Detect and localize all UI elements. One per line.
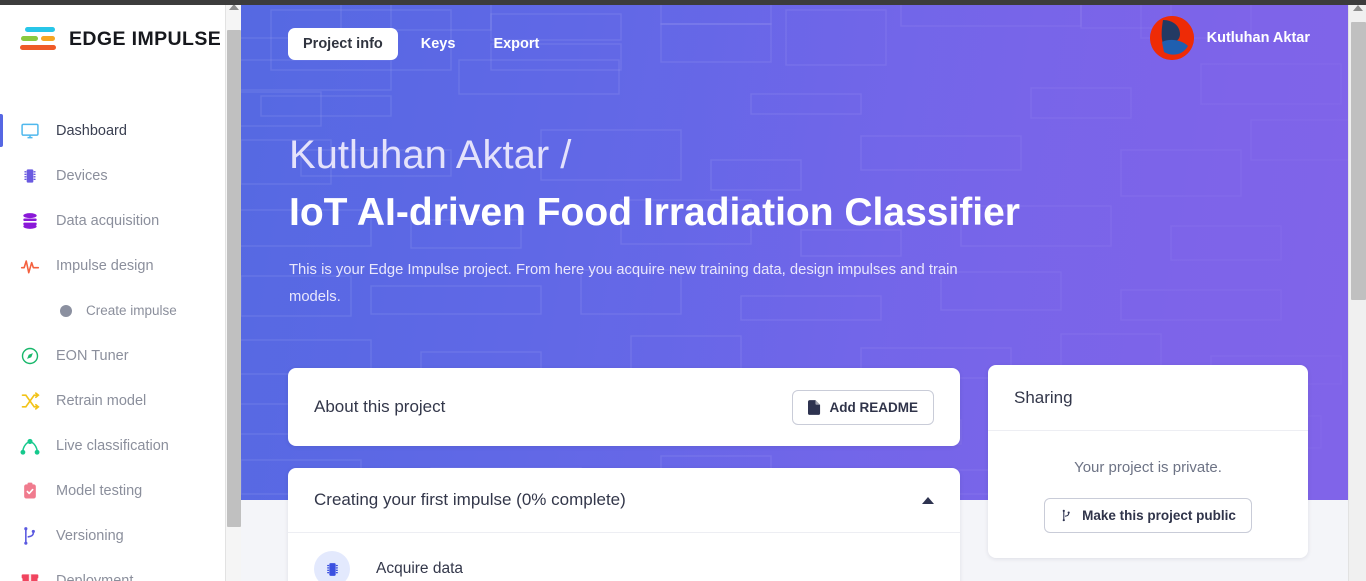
scrollbar-thumb[interactable]	[1351, 22, 1366, 300]
hero-description: This is your Edge Impulse project. From …	[289, 257, 969, 312]
sidebar-item-label: Data acquisition	[56, 213, 159, 229]
monitor-icon	[20, 121, 40, 141]
shuffle-icon	[20, 391, 40, 411]
sidebar-item-deployment[interactable]: Deployment	[0, 558, 225, 581]
scroll-up-arrow-icon[interactable]	[1353, 5, 1363, 11]
sidebar-item-retrain-model[interactable]: Retrain model	[0, 378, 225, 423]
tab-project-info[interactable]: Project info	[288, 28, 398, 60]
sidebar-item-label: Live classification	[56, 438, 169, 454]
step-badge	[314, 551, 350, 581]
sharing-status: Your project is private.	[988, 459, 1308, 476]
database-icon	[20, 211, 40, 231]
sidebar-subitem-label: Create impulse	[86, 303, 177, 318]
sidebar-item-label: Devices	[56, 168, 108, 184]
pulse-icon	[20, 256, 40, 276]
clipboard-check-icon	[20, 481, 40, 501]
sidebar-item-versioning[interactable]: Versioning	[0, 513, 225, 558]
project-tabs: Project info Keys Export	[288, 28, 554, 60]
about-project-card: About this project Add README	[288, 368, 960, 446]
avatar	[1150, 16, 1194, 60]
compass-icon	[20, 346, 40, 366]
sidebar-item-impulse-design[interactable]: Impulse design	[0, 243, 225, 288]
sharing-card: Sharing Your project is private. Make th…	[988, 365, 1308, 558]
impulse-step-row[interactable]: Acquire data	[288, 533, 960, 581]
user-name: Kutluhan Aktar	[1207, 30, 1310, 46]
window-top-strip	[0, 0, 1366, 5]
git-branch-icon	[1060, 508, 1073, 523]
file-icon	[808, 400, 821, 415]
sidebar-scrollbar[interactable]	[225, 0, 241, 581]
tab-keys[interactable]: Keys	[406, 28, 471, 60]
box-icon	[20, 571, 40, 581]
sidebar: EDGE IMPULSE Dashboard Devices	[0, 0, 225, 581]
page-scrollbar[interactable]	[1348, 0, 1366, 581]
tab-export[interactable]: Export	[478, 28, 554, 60]
sidebar-item-label: Retrain model	[56, 393, 146, 409]
sidebar-item-data-acquisition[interactable]: Data acquisition	[0, 198, 225, 243]
add-readme-button[interactable]: Add README	[792, 390, 935, 425]
sidebar-item-label: Model testing	[56, 483, 142, 499]
chip-icon	[323, 560, 342, 579]
step-label: Acquire data	[376, 560, 463, 578]
sidebar-item-label: Impulse design	[56, 258, 154, 274]
make-public-label: Make this project public	[1082, 508, 1236, 523]
make-project-public-button[interactable]: Make this project public	[1044, 498, 1252, 533]
impulse-card-title: Creating your first impulse (0% complete…	[314, 490, 626, 510]
sidebar-item-eon-tuner[interactable]: EON Tuner	[0, 333, 225, 378]
sidebar-item-dashboard[interactable]: Dashboard	[0, 108, 225, 153]
brand-name: EDGE IMPULSE	[69, 28, 221, 51]
main-content: Project info Keys Export Kutluhan Aktar …	[241, 0, 1348, 581]
sidebar-item-model-testing[interactable]: Model testing	[0, 468, 225, 513]
sidebar-item-live-classification[interactable]: Live classification	[0, 423, 225, 468]
add-readme-label: Add README	[830, 400, 919, 415]
hero-owner: Kutluhan Aktar /	[289, 132, 1020, 178]
sidebar-item-label: Dashboard	[56, 123, 127, 139]
edge-impulse-logo-icon	[20, 24, 60, 54]
sidebar-nav: Dashboard Devices Data acqui	[0, 108, 225, 581]
page-title: IoT AI-driven Food Irradiation Classifie…	[289, 190, 1020, 237]
chip-icon	[20, 166, 40, 186]
brand-logo[interactable]: EDGE IMPULSE	[20, 24, 221, 54]
dot-icon	[60, 305, 72, 317]
about-card-title: About this project	[314, 397, 445, 417]
app-root: EDGE IMPULSE Dashboard Devices	[0, 0, 1366, 581]
first-impulse-card: Creating your first impulse (0% complete…	[288, 468, 960, 581]
sidebar-item-label: EON Tuner	[56, 348, 129, 364]
chevron-up-icon[interactable]	[922, 497, 934, 504]
graph-icon	[20, 436, 40, 456]
sharing-card-title: Sharing	[1014, 388, 1073, 408]
user-menu[interactable]: Kutluhan Aktar	[1150, 16, 1310, 60]
git-branch-icon	[20, 526, 40, 546]
scrollbar-thumb[interactable]	[227, 30, 241, 527]
hero-copy: Kutluhan Aktar / IoT AI-driven Food Irra…	[289, 132, 1020, 312]
sidebar-subitem-create-impulse[interactable]: Create impulse	[0, 288, 225, 333]
sidebar-item-label: Deployment	[56, 573, 133, 581]
sidebar-item-label: Versioning	[56, 528, 124, 544]
sidebar-item-devices[interactable]: Devices	[0, 153, 225, 198]
